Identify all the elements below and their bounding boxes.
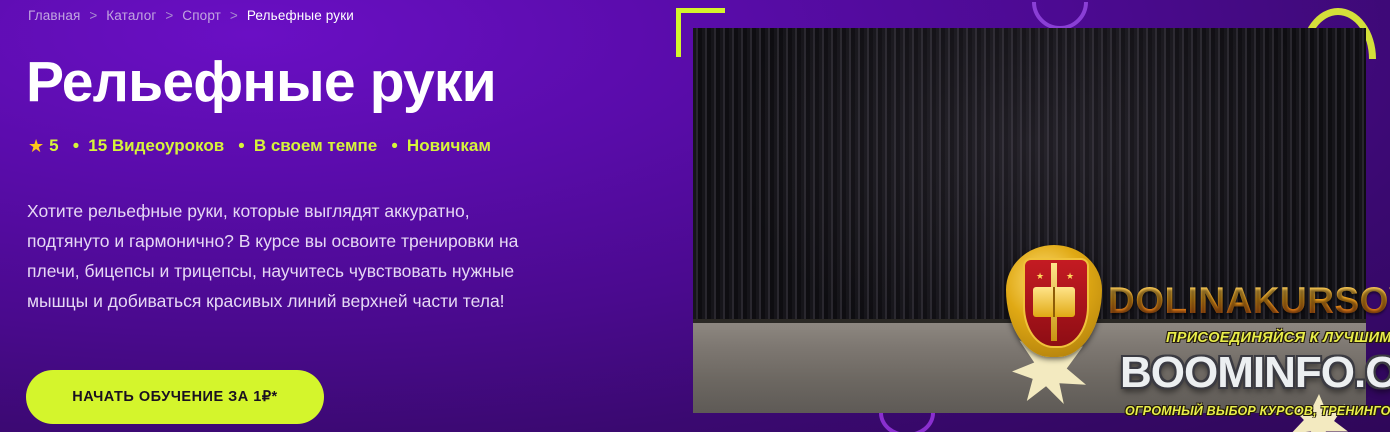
- page-title: Рельефные руки: [26, 52, 496, 112]
- meta-item-pace: В своем темпе: [254, 136, 377, 156]
- hero-banner: Главная > Каталог > Спорт > Рельефные ру…: [0, 0, 1390, 432]
- breadcrumb-current-page: Рельефные руки: [247, 8, 354, 23]
- star-icon: ★: [1036, 271, 1044, 282]
- book-icon: [1033, 287, 1075, 317]
- start-course-button[interactable]: НАЧАТЬ ОБУЧЕНИЕ ЗА 1₽*: [26, 370, 324, 424]
- bullet-icon: •: [391, 137, 398, 156]
- bullet-icon: •: [238, 137, 245, 156]
- bullet-icon: •: [73, 137, 80, 156]
- watermark-tagline: ОГРОМНЫЙ ВЫБОР КУРСОВ, ТРЕНИНГОВ, КНИГ: [1125, 404, 1390, 418]
- meta-item-level: Новичкам: [407, 136, 491, 156]
- breadcrumb-item-catalog[interactable]: Каталог: [106, 8, 156, 23]
- crest-emblem-icon: ★ ★: [1006, 245, 1102, 357]
- star-icon: ★: [28, 137, 44, 155]
- meta-item-lessons: 15 Видеоуроков: [88, 136, 224, 156]
- watermark-brand-secondary: BOOMINFO.ORG: [1120, 348, 1390, 398]
- star-icon: ★: [1066, 271, 1074, 282]
- watermark-brand-primary: DOLINAKURSOV: [1108, 280, 1390, 322]
- breadcrumb: Главная > Каталог > Спорт > Рельефные ру…: [28, 8, 354, 23]
- hero-left-column: Главная > Каталог > Спорт > Рельефные ру…: [0, 0, 660, 432]
- course-meta-list: ★ 5 • 15 Видеоуроков • В своем темпе • Н…: [28, 136, 491, 156]
- rating-value: 5: [49, 136, 58, 156]
- breadcrumb-item-home[interactable]: Главная: [28, 8, 80, 23]
- course-description: Хотите рельефные руки, которые выглядят …: [27, 196, 547, 316]
- watermark-join-text: ПРИСОЕДИНЯЙСЯ К ЛУЧШИМ!: [1166, 330, 1390, 346]
- breadcrumb-separator-icon: >: [89, 8, 97, 23]
- breadcrumb-separator-icon: >: [165, 8, 173, 23]
- breadcrumb-item-sport[interactable]: Спорт: [182, 8, 221, 23]
- purple-arc-decoration: [1032, 0, 1088, 30]
- breadcrumb-separator-icon: >: [230, 8, 238, 23]
